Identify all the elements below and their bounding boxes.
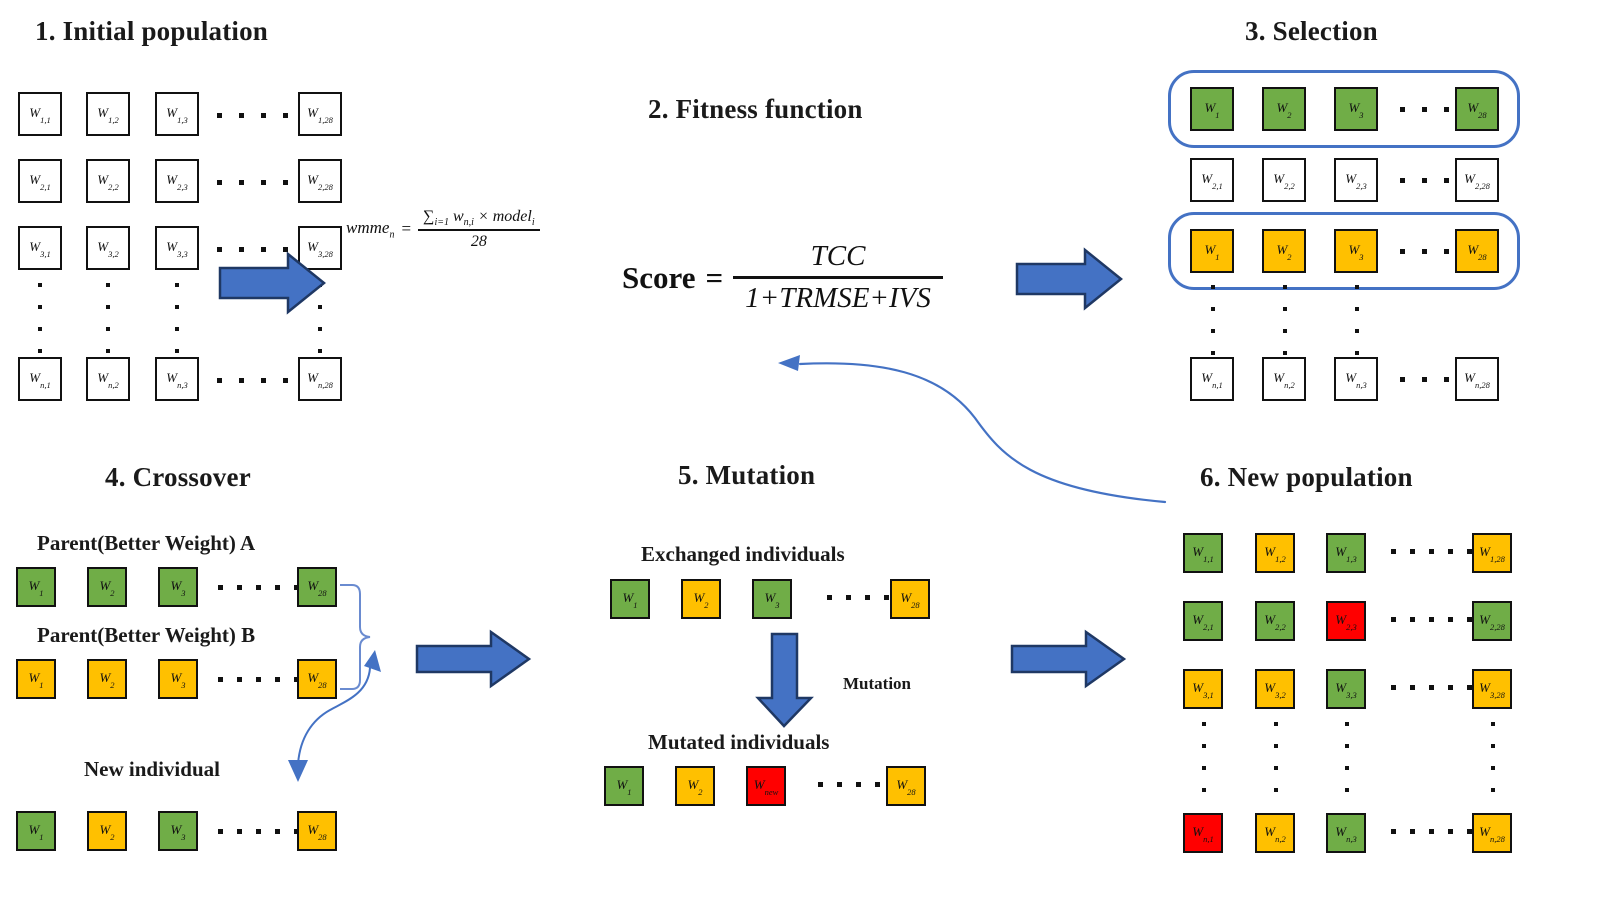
label-exchanged-individuals: Exchanged individuals <box>641 542 845 567</box>
exchanged-cell-w-28: W28 <box>890 579 930 619</box>
label-mutated-individuals: Mutated individuals <box>648 730 829 755</box>
cell-w-2-3: W2,3 <box>155 159 199 203</box>
newpop-cell-w-1-3: W1,3 <box>1326 533 1366 573</box>
newpop-cell-w-3-3: W3,3 <box>1326 669 1366 709</box>
vertical-ellipsis-newpop-col-1 <box>1202 722 1206 810</box>
child-cell-w-2: W2 <box>87 811 127 851</box>
child-cell-w-1: W1 <box>16 811 56 851</box>
arrow-mutation-to-new-population-icon <box>1010 628 1130 690</box>
vertical-ellipsis-newpop-col-3 <box>1345 722 1349 810</box>
sel-cell-green-w-1: W1 <box>1190 87 1234 131</box>
cell-w-3-3: W3,3 <box>155 226 199 270</box>
sel-cell-yellow-w-3: W3 <box>1334 229 1378 273</box>
cell-w-1-1: W1,1 <box>18 92 62 136</box>
sel-cell-green-w-28: W28 <box>1455 87 1499 131</box>
sel-cell-yellow-w-28: W28 <box>1455 229 1499 273</box>
mutated-cell-w-2: W2 <box>675 766 715 806</box>
fitness-score-formula: Score = TCC 1+TRMSE+IVS <box>622 240 943 315</box>
vertical-ellipsis-newpop-col-2 <box>1274 722 1278 810</box>
arrow-fitness-to-selection-icon <box>1015 248 1125 310</box>
label-mutation-operation: Mutation <box>843 674 911 694</box>
cell-w-2-2: W2,2 <box>86 159 130 203</box>
sel-cell-w-2-1: W2,1 <box>1190 158 1234 202</box>
arrow-population-to-fitness-icon <box>218 252 328 314</box>
sel-cell-w-2-28: W2,28 <box>1455 158 1499 202</box>
cell-w-n-2: Wn,2 <box>86 357 130 401</box>
newpop-cell-w-2-28: W2,28 <box>1472 601 1512 641</box>
wmme-formula: wmmen = ∑i=1 wn,i × modeli 28 <box>346 208 540 251</box>
heading-selection: 3. Selection <box>1245 16 1378 47</box>
heading-mutation: 5. Mutation <box>678 460 815 491</box>
newpop-cell-w-1-2: W1,2 <box>1255 533 1295 573</box>
heading-new-population: 6. New population <box>1200 462 1413 493</box>
heading-crossover: 4. Crossover <box>105 462 251 493</box>
heading-initial-population: 1. Initial population <box>35 16 268 47</box>
parent-a-cell-w-1: W1 <box>16 567 56 607</box>
label-parent-a: Parent(Better Weight) A <box>37 531 255 556</box>
cell-w-2-1: W2,1 <box>18 159 62 203</box>
newpop-cell-w-n-3: Wn,3 <box>1326 813 1366 853</box>
cell-w-n-3: Wn,3 <box>155 357 199 401</box>
newpop-cell-w-1-28: W1,28 <box>1472 533 1512 573</box>
cell-w-2-28: W2,28 <box>298 159 342 203</box>
sel-cell-w-2-2: W2,2 <box>1262 158 1306 202</box>
cell-w-3-2: W3,2 <box>86 226 130 270</box>
arrow-feedback-loop-icon <box>770 340 1170 520</box>
child-cell-w-3: W3 <box>158 811 198 851</box>
sel-cell-w-n-3: Wn,3 <box>1334 357 1378 401</box>
arrow-crossover-to-mutation-icon <box>415 628 535 690</box>
cell-w-n-28: Wn,28 <box>298 357 342 401</box>
cell-w-3-1: W3,1 <box>18 226 62 270</box>
newpop-cell-w-2-2: W2,2 <box>1255 601 1295 641</box>
parent-a-cell-w-2: W2 <box>87 567 127 607</box>
mutated-cell-w-1: W1 <box>604 766 644 806</box>
newpop-cell-w-n-2: Wn,2 <box>1255 813 1295 853</box>
label-parent-b: Parent(Better Weight) B <box>37 623 255 648</box>
crossover-curve-icon <box>272 636 402 796</box>
newpop-cell-w-3-28: W3,28 <box>1472 669 1512 709</box>
cell-w-1-28: W1,28 <box>298 92 342 136</box>
newpop-cell-w-2-1: W2,1 <box>1183 601 1223 641</box>
newpop-cell-w-3-2: W3,2 <box>1255 669 1295 709</box>
cell-w-1-2: W1,2 <box>86 92 130 136</box>
newpop-cell-w-3-1: W3,1 <box>1183 669 1223 709</box>
heading-fitness-function: 2. Fitness function <box>648 94 863 125</box>
sel-cell-yellow-w-2: W2 <box>1262 229 1306 273</box>
mutated-cell-w-new: Wnew <box>746 766 786 806</box>
sel-cell-green-w-3: W3 <box>1334 87 1378 131</box>
sel-cell-w-2-3: W2,3 <box>1334 158 1378 202</box>
child-cell-w-28: W28 <box>297 811 337 851</box>
vertical-ellipsis-newpop-col-28 <box>1491 722 1495 810</box>
mutated-cell-w-28: W28 <box>886 766 926 806</box>
sel-cell-w-n-1: Wn,1 <box>1190 357 1234 401</box>
parent-b-cell-w-1: W1 <box>16 659 56 699</box>
cell-w-n-1: Wn,1 <box>18 357 62 401</box>
sel-cell-yellow-w-1: W1 <box>1190 229 1234 273</box>
newpop-cell-w-1-1: W1,1 <box>1183 533 1223 573</box>
parent-b-cell-w-3: W3 <box>158 659 198 699</box>
exchanged-cell-w-3: W3 <box>752 579 792 619</box>
sel-cell-w-n-28: Wn,28 <box>1455 357 1499 401</box>
arrow-mutation-down-icon <box>756 632 814 728</box>
sel-cell-w-n-2: Wn,2 <box>1262 357 1306 401</box>
cell-w-1-3: W1,3 <box>155 92 199 136</box>
label-new-individual: New individual <box>84 757 220 782</box>
newpop-cell-w-n-28: Wn,28 <box>1472 813 1512 853</box>
parent-b-cell-w-2: W2 <box>87 659 127 699</box>
sel-cell-green-w-2: W2 <box>1262 87 1306 131</box>
parent-a-cell-w-3: W3 <box>158 567 198 607</box>
newpop-cell-w-2-3: W2,3 <box>1326 601 1366 641</box>
parent-a-cell-w-28: W28 <box>297 567 337 607</box>
newpop-cell-w-n-1: Wn,1 <box>1183 813 1223 853</box>
exchanged-cell-w-1: W1 <box>610 579 650 619</box>
exchanged-cell-w-2: W2 <box>681 579 721 619</box>
